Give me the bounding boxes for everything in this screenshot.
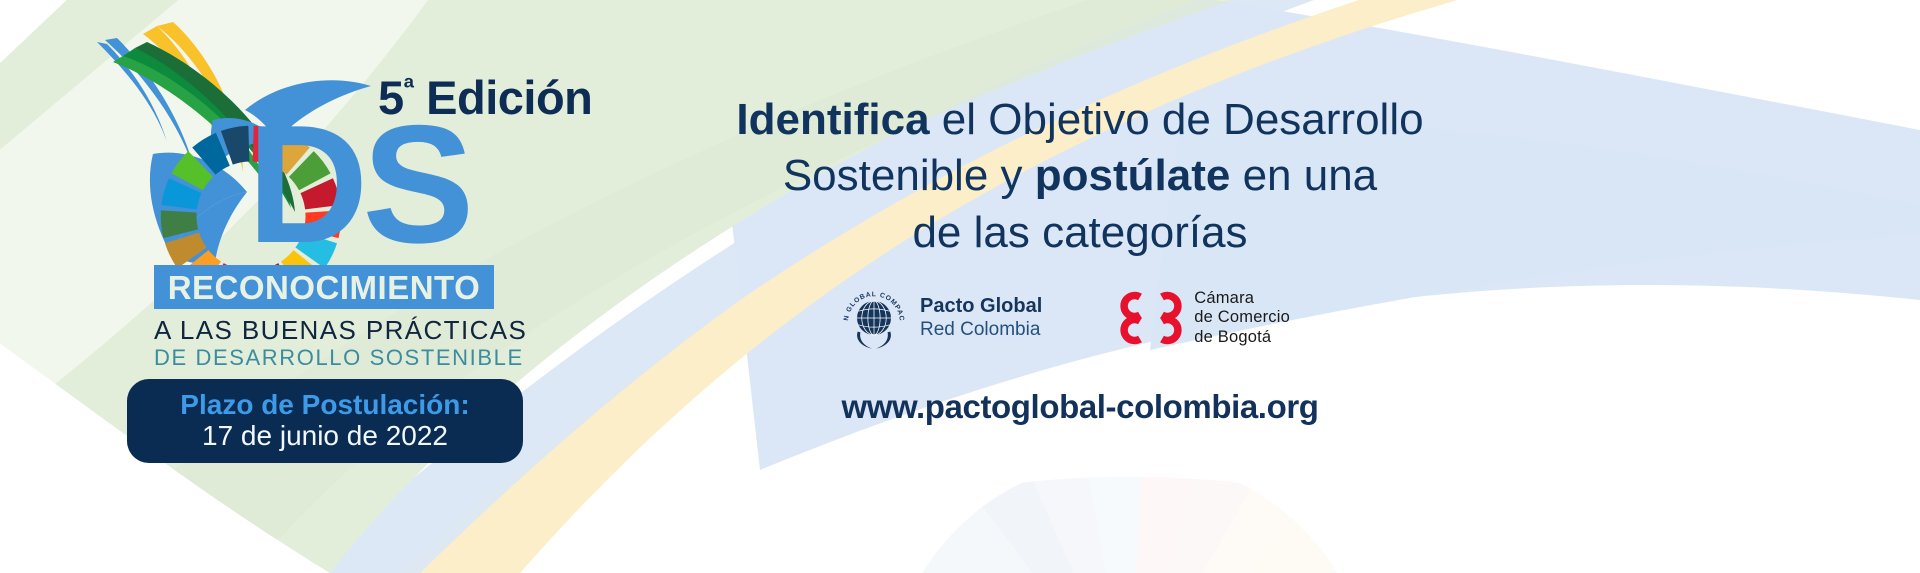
partner-pacto-global: UN GLOBAL COMPACT Pacto G (840, 284, 1042, 352)
reconocimiento-label: RECONOCIMIENTO (168, 271, 481, 304)
partner-camara-comercio-bogota: Cámara de Comercio de Bogotá (1120, 289, 1290, 346)
subtitle-line-2: DE DESARROLLO SOSTENIBLE (154, 345, 494, 371)
pacto-global-wordmark: Pacto Global Red Colombia (920, 295, 1042, 341)
ccb-name-line-1: Cámara (1194, 289, 1290, 308)
partner-name-line-2: Red Colombia (920, 319, 1042, 341)
headline: Identifica el Objetivo de Desarrollo Sos… (700, 92, 1460, 261)
ods-recognition-banner: 5ª Edición DS RECONOCIMIENTO A LAS BUENA… (0, 0, 1920, 573)
partner-name-line-1: Pacto Global (920, 295, 1042, 319)
un-global-compact-globe-icon: UN GLOBAL COMPACT (840, 284, 908, 352)
deadline-title: Plazo de Postulación: (180, 390, 469, 419)
deadline-date: 17 de junio de 2022 (202, 420, 448, 452)
headline-bold-postulate: postúlate (1035, 151, 1231, 200)
headline-line-2: Sostenible y postúlate en una (700, 148, 1460, 204)
deadline-badge: Plazo de Postulación: 17 de junio de 202… (127, 379, 523, 463)
headline-line-3: de las categorías (700, 205, 1460, 261)
headline-bold-identifica: Identifica (736, 95, 929, 144)
partner-logos: UN GLOBAL COMPACT Pacto G (840, 278, 1400, 358)
ccb-wordmark: Cámara de Comercio de Bogotá (1194, 289, 1290, 346)
subtitle-line-1: A LAS BUENAS PRÁCTICAS (154, 315, 494, 346)
website-url[interactable]: www.pactoglobal-colombia.org (700, 388, 1460, 426)
headline-line-2-rest: en una (1230, 151, 1377, 200)
ccb-name-line-2: de Comercio (1194, 308, 1290, 327)
ccb-four-c-icon (1120, 290, 1182, 346)
ods-acronym: DS (247, 100, 468, 268)
headline-line-1: Identifica el Objetivo de Desarrollo (700, 92, 1460, 148)
headline-line-1-rest: el Objetivo de Desarrollo (930, 95, 1424, 144)
reconocimiento-banner: RECONOCIMIENTO (154, 265, 494, 309)
headline-line-2-pre: Sostenible y (783, 151, 1035, 200)
ods-logo-lockup: 5ª Edición DS RECONOCIMIENTO A LAS BUENA… (95, 12, 565, 562)
ccb-name-line-3: de Bogotá (1194, 328, 1290, 347)
